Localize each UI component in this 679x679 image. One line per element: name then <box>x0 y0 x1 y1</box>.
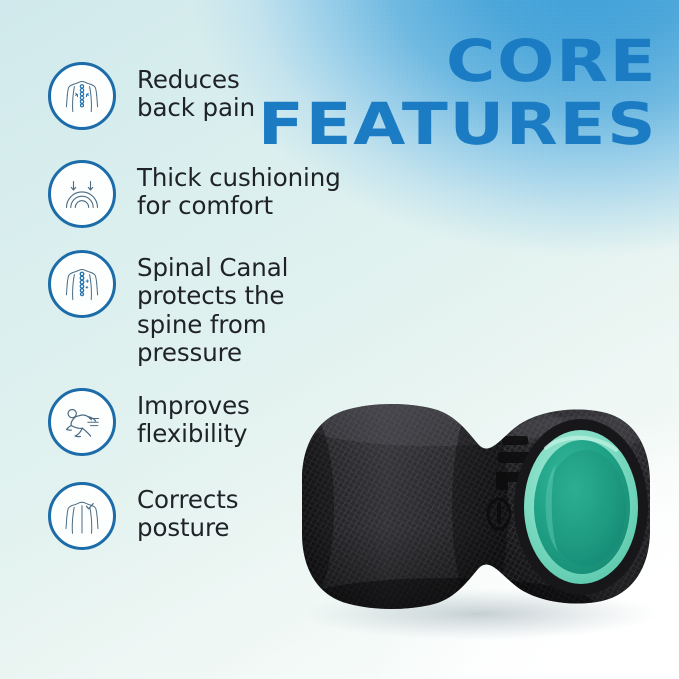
spinal-canal-icon <box>48 250 116 318</box>
feature-label-thick-cushioning: Thick cushioning for comfort <box>137 158 341 221</box>
cushion-arcs-arrows-icon <box>48 160 116 228</box>
feature-label-corrects-posture: Corrects posture <box>137 480 238 543</box>
headline-line-features: FEATURES <box>258 97 657 153</box>
headline-line-core: CORE <box>258 34 657 90</box>
feature-label-improves-flexibility: Improves flexibility <box>137 386 250 449</box>
feature-label-line: Reduces <box>137 65 240 94</box>
feature-label-line: Improves <box>137 391 250 420</box>
product-feature-infographic: CORE FEATURES <box>0 0 679 679</box>
feature-label-line: protects the <box>137 281 284 310</box>
feature-label-line: for comfort <box>137 191 273 220</box>
feature-item-thick-cushioning: Thick cushioning for comfort <box>48 158 348 228</box>
feature-item-spinal-canal: Spinal Canal protects the spine from pre… <box>48 248 348 368</box>
running-person-icon <box>48 388 116 456</box>
back-spine-pain-icon <box>48 62 116 130</box>
feature-label-line: pressure <box>137 338 242 367</box>
feature-label-line: Corrects <box>137 485 238 514</box>
feature-label-line: flexibility <box>137 419 247 448</box>
posture-check-icon <box>48 482 116 550</box>
feature-item-improves-flexibility: Improves flexibility <box>48 386 348 456</box>
end-cap-inner <box>546 450 626 566</box>
headline: CORE FEATURES <box>313 34 657 152</box>
feature-item-corrects-posture: Corrects posture <box>48 480 348 550</box>
feature-label-reduces-back-pain: Reduces back pain <box>137 60 255 123</box>
feature-label-line: Spinal Canal <box>137 253 288 282</box>
feature-label-spinal-canal: Spinal Canal protects the spine from pre… <box>137 248 288 368</box>
feature-label-line: spine from <box>137 310 267 339</box>
feature-label-line: Thick cushioning <box>137 163 341 192</box>
roller-end-cap <box>514 419 648 595</box>
feature-label-line: back pain <box>137 93 255 122</box>
feature-label-line: posture <box>137 513 229 542</box>
